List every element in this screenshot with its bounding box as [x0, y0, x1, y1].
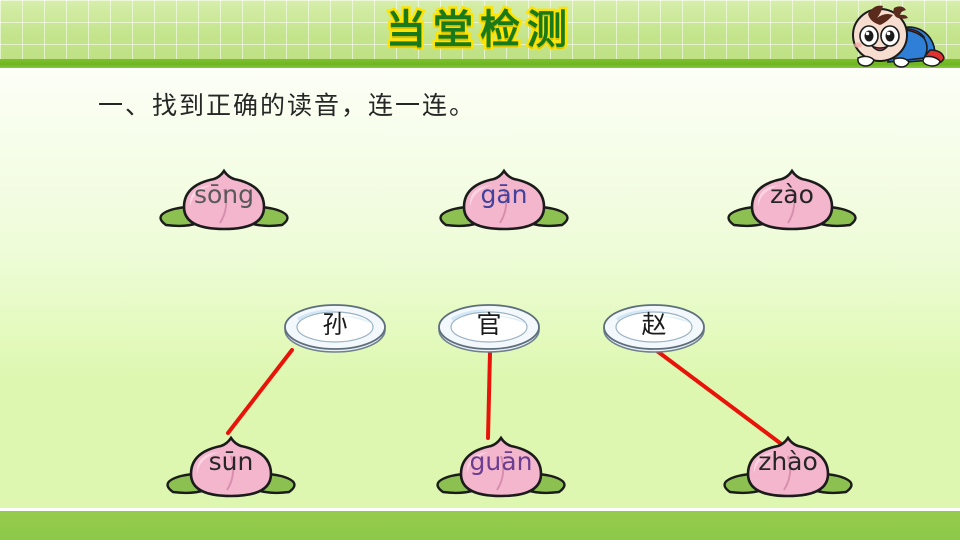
- header-divider-rule: [0, 59, 960, 68]
- peach-pinyin-card[interactable]: sōng: [148, 163, 300, 243]
- plate-hanzi-card[interactable]: 赵: [600, 298, 708, 356]
- plate-hanzi-card[interactable]: 孙: [281, 298, 389, 356]
- peach-pinyin-card[interactable]: guān: [425, 430, 577, 510]
- slide-footer: [0, 511, 960, 540]
- connector-line-guan: [488, 352, 490, 438]
- peach-pinyin-card[interactable]: zhào: [712, 430, 864, 510]
- slide-canvas: 当堂检测: [0, 0, 960, 540]
- page-title: 当堂检测: [0, 2, 960, 58]
- connector-line-sun: [228, 350, 292, 433]
- plate-hanzi-card[interactable]: 官: [435, 298, 543, 356]
- exercise-instruction: 一、找到正确的读音，连一连。: [98, 86, 476, 122]
- peach-pinyin-card[interactable]: zào: [716, 163, 868, 243]
- cartoon-baby-icon: [838, 2, 954, 68]
- header-divider-white: [0, 68, 960, 70]
- peach-pinyin-card[interactable]: sūn: [155, 430, 307, 510]
- peach-pinyin-card[interactable]: gān: [428, 163, 580, 243]
